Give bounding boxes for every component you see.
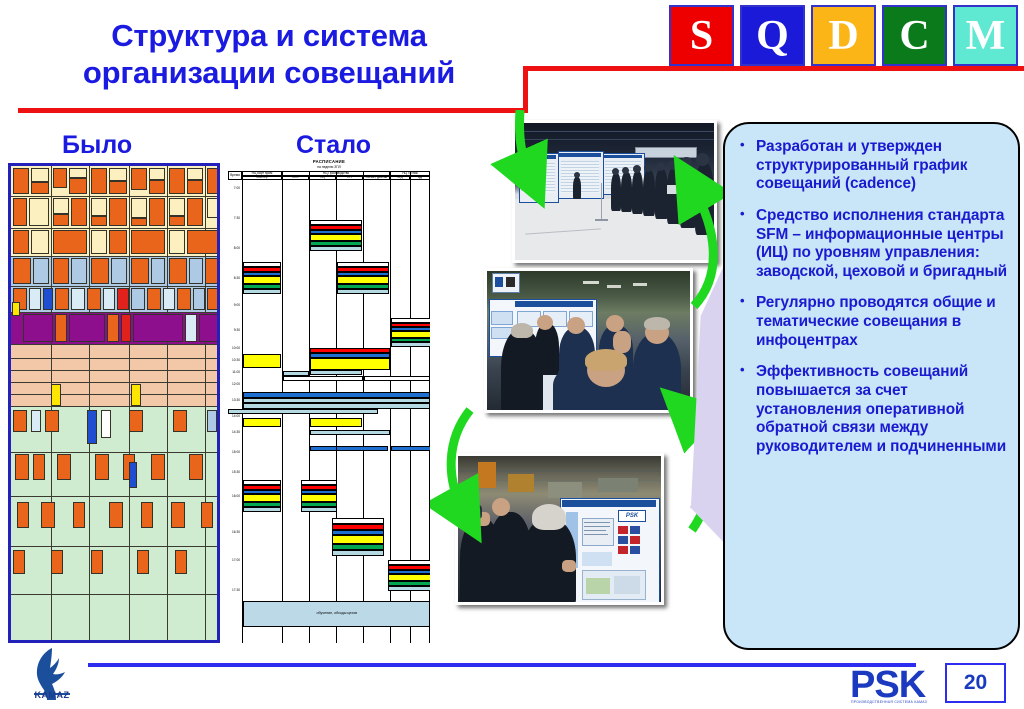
after-header-nls: нЛС [282,176,309,180]
after-header-logist: Логист, достав [363,176,390,180]
sqdcm-letter-d: D [828,15,858,57]
process-cycle-arrows [430,110,730,640]
sqdcm-box-d: D [811,5,876,66]
title-red-rule-top [523,66,1024,71]
after-time-label: 7:00 [228,186,240,190]
arrow-up-right-top [692,186,713,306]
sqdcm-box-s: S [669,5,734,66]
after-time-label: 14:00 [228,414,240,418]
after-time-label: 15:00 [228,450,240,454]
after-schedule-table: РАСПИСАНИЕ на неделю ЗПЛ Время НЦ Карт п… [228,158,430,643]
before-label: Было [62,131,132,160]
after-time-label: 11:00 [228,370,240,374]
sqdcm-badge-row: S Q D C M [669,5,1018,66]
after-time-label: 16:00 [228,494,240,498]
page-number-badge: 20 [945,663,1006,703]
title-red-rule-vertical [523,66,528,113]
arrow-down-left [451,410,470,512]
footer-rule [88,663,916,667]
after-time-label: 17:30 [228,588,240,592]
after-time-label: 17:00 [228,558,240,562]
page-title-line2: организации совещаний [34,55,504,92]
psk-subtitle: ПРОИЗВОДСТВЕННАЯ СИСТЕМА КАМАЗ [851,700,946,704]
after-header-cd: цД [410,176,430,180]
page-title: Структура и система организации совещани… [34,18,504,91]
arrow-down-top [519,110,530,176]
after-table-footer-band: обучение, обходы цехов [243,601,430,627]
after-time-label: 12:00 [228,382,240,386]
page-title-line1: Структура и система [34,18,504,55]
after-time-label: 10:30 [228,358,240,362]
callout-bullet-4: Эффективность совещаний повышается за сч… [737,363,1008,456]
callout-bullet-list: Разработан и утвержден структурированный… [737,138,1008,457]
slide-root: Структура и система организации совещани… [0,0,1024,709]
callout-panel: Разработан и утвержден структурированный… [723,122,1020,650]
kamaz-wordmark: KAMAZ [22,690,82,700]
after-time-label: 9:30 [228,328,240,332]
psk-logo: PSK [850,666,925,704]
sqdcm-letter-s: S [690,15,713,57]
after-time-label: 8:00 [228,246,240,250]
after-label: Стало [296,131,371,160]
after-time-label: 9:00 [228,303,240,307]
after-time-label: 7:30 [228,216,240,220]
after-header-nc: нЦ [309,176,336,180]
callout-bullet-3: Регулярно проводятся общие и тематически… [737,294,1008,350]
after-table-title: РАСПИСАНИЕ [228,159,430,164]
callout-bullet-1: Разработан и утвержден структурированный… [737,138,1008,194]
after-table-subtitle: на неделю ЗПЛ [228,165,430,169]
sqdcm-letter-c: C [899,15,929,57]
after-header-time: Время [228,171,242,180]
sqdcm-box-m: M [953,5,1018,66]
callout-bullet-2: Средство исполнения стандарта SFM – инфо… [737,207,1008,282]
after-header-zgd: ЗгД [390,176,410,180]
sqdcm-letter-m: M [966,15,1006,57]
sqdcm-box-q: Q [740,5,805,66]
sqdcm-box-c: C [882,5,947,66]
after-time-label: 16:30 [228,530,240,534]
after-time-label: 15:30 [228,470,240,474]
after-time-label: 10:00 [228,346,240,350]
after-time-label: 14:30 [228,430,240,434]
after-header-master: Мастер [242,176,282,180]
after-time-label: 8:30 [228,276,240,280]
after-time-label: 13:30 [228,398,240,402]
after-header-np: нП [336,176,363,180]
before-schedule-table [8,163,220,643]
sqdcm-letter-q: Q [756,15,789,57]
